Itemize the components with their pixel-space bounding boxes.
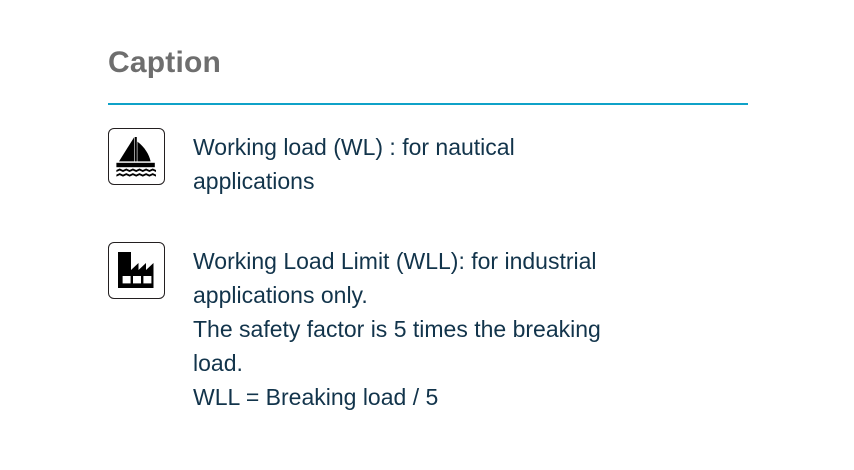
list-item-label: Working load (WL) : for nautical applica… [193, 128, 515, 198]
page-title: Caption [108, 44, 750, 82]
factory-icon [115, 250, 159, 292]
header-divider [108, 103, 748, 105]
sailboat-icon-box [108, 128, 165, 185]
list-item: Working Load Limit (WLL): for industrial… [108, 242, 808, 414]
factory-icon-box [108, 242, 165, 299]
list-item-label: Working Load Limit (WLL): for industrial… [193, 242, 601, 414]
list-item: Working load (WL) : for nautical applica… [108, 128, 808, 242]
caption-header: Caption [108, 44, 750, 82]
sailboat-icon [114, 135, 159, 178]
caption-page: Caption [0, 0, 854, 470]
legend-list: Working load (WL) : for nautical applica… [108, 128, 808, 414]
